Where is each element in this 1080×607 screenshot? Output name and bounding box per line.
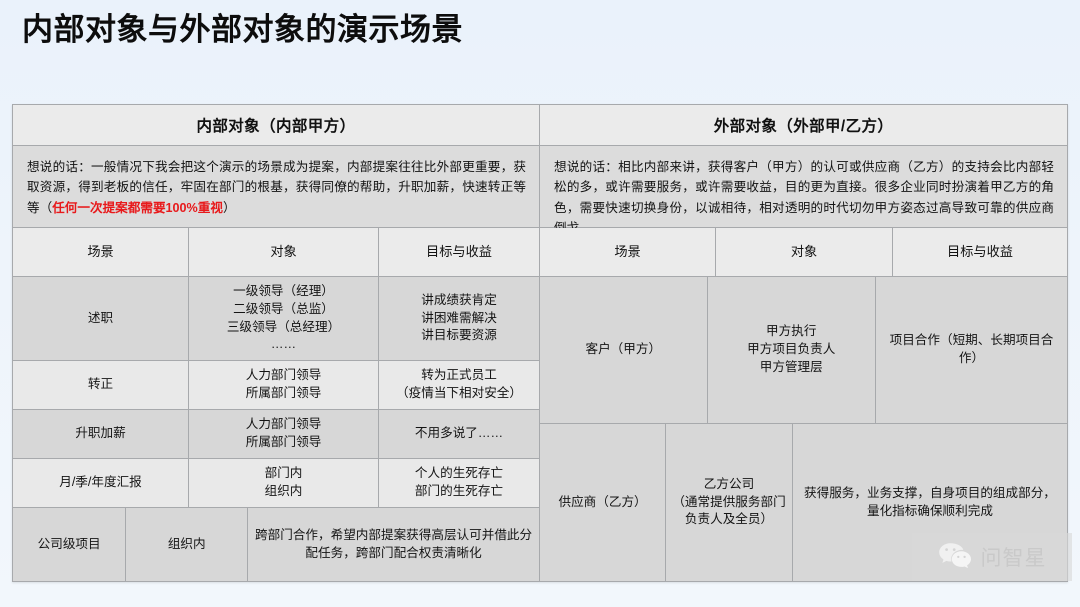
table-row: 述职 一级领导（经理） 二级领导（总监） 三级领导（总经理） …… 讲成绩获肯定…	[13, 276, 539, 360]
table-header-row-external: 场景 对象 目标与收益	[540, 228, 1067, 276]
cell-goal: 转为正式员工 （疫情当下相对安全）	[378, 361, 539, 409]
table-row: 公司级项目 组织内 跨部门合作，希望内部提案获得高层认可并借此分配任务，跨部门配…	[13, 507, 539, 581]
cell-object: 乙方公司 （通常提供服务部门负责人及全员）	[665, 424, 792, 581]
section-description-external: 想说的话：相比内部来讲，获得客户（甲方）的认可或供应商（乙方）的支持会比内部轻松…	[540, 146, 1067, 228]
cell-object: 人力部门领导 所属部门领导	[188, 361, 378, 409]
cell-object: 甲方执行 甲方项目负责人 甲方管理层	[707, 277, 875, 423]
cell-object: 一级领导（经理） 二级领导（总监） 三级领导（总经理） ……	[188, 277, 378, 360]
cell-object: 组织内	[125, 508, 247, 581]
cell-goal: 不用多说了……	[378, 410, 539, 458]
cell-scene: 客户（甲方）	[540, 277, 707, 423]
table-header-row-internal: 场景 对象 目标与收益	[13, 228, 539, 276]
table-row: 月/季/年度汇报 部门内 组织内 个人的生死存亡 部门的生死存亡	[13, 458, 539, 507]
column-header-goal: 目标与收益	[378, 228, 539, 276]
cell-scene: 述职	[13, 277, 188, 360]
cell-goal: 跨部门合作，希望内部提案获得高层认可并借此分配任务，跨部门配合权责清晰化	[247, 508, 539, 581]
slide-canvas: 内部对象与外部对象的演示场景 内部对象（内部甲方） 想说的话：一般情况下我会把这…	[0, 0, 1080, 607]
description-highlight-internal: 任何一次提案都需要100%重视	[52, 201, 223, 215]
column-header-scene: 场景	[13, 228, 188, 276]
table-row: 客户（甲方） 甲方执行 甲方项目负责人 甲方管理层 项目合作（短期、长期项目合作…	[540, 276, 1067, 423]
table-row: 转正 人力部门领导 所属部门领导 转为正式员工 （疫情当下相对安全）	[13, 360, 539, 409]
cell-object: 人力部门领导 所属部门领导	[188, 410, 378, 458]
column-header-object: 对象	[715, 228, 892, 276]
section-external: 外部对象（外部甲/乙方） 想说的话：相比内部来讲，获得客户（甲方）的认可或供应商…	[540, 105, 1067, 581]
comparison-table: 内部对象（内部甲方） 想说的话：一般情况下我会把这个演示的场景成为提案，内部提案…	[12, 104, 1068, 582]
section-header-external: 外部对象（外部甲/乙方）	[540, 105, 1067, 146]
section-header-internal: 内部对象（内部甲方）	[13, 105, 539, 146]
cell-scene: 月/季/年度汇报	[13, 459, 188, 507]
page-title: 内部对象与外部对象的演示场景	[22, 10, 463, 50]
data-grid-internal: 场景 对象 目标与收益 述职 一级领导（经理） 二级领导（总监） 三级领导（总经…	[13, 228, 539, 581]
cell-goal: 项目合作（短期、长期项目合作）	[875, 277, 1067, 423]
section-description-internal: 想说的话：一般情况下我会把这个演示的场景成为提案，内部提案往往比外部更重要，获取…	[13, 146, 539, 228]
section-internal: 内部对象（内部甲方） 想说的话：一般情况下我会把这个演示的场景成为提案，内部提案…	[13, 105, 540, 581]
table-row: 升职加薪 人力部门领导 所属部门领导 不用多说了……	[13, 409, 539, 458]
description-text-external: 想说的话：相比内部来讲，获得客户（甲方）的认可或供应商（乙方）的支持会比内部轻松…	[554, 160, 1054, 235]
description-suffix-internal: ）	[223, 201, 236, 215]
cell-scene: 供应商（乙方）	[540, 424, 665, 581]
data-grid-external: 场景 对象 目标与收益 客户（甲方） 甲方执行 甲方项目负责人 甲方管理层 项目…	[540, 228, 1067, 581]
cell-scene: 转正	[13, 361, 188, 409]
cell-scene: 公司级项目	[13, 508, 125, 581]
cell-object: 部门内 组织内	[188, 459, 378, 507]
column-header-object: 对象	[188, 228, 378, 276]
cell-goal: 获得服务，业务支撑，自身项目的组成部分，量化指标确保顺利完成	[792, 424, 1067, 581]
cell-scene: 升职加薪	[13, 410, 188, 458]
column-header-goal: 目标与收益	[892, 228, 1067, 276]
cell-goal: 个人的生死存亡 部门的生死存亡	[378, 459, 539, 507]
table-row: 供应商（乙方） 乙方公司 （通常提供服务部门负责人及全员） 获得服务，业务支撑，…	[540, 423, 1067, 581]
column-header-scene: 场景	[540, 228, 715, 276]
cell-goal: 讲成绩获肯定 讲困难需解决 讲目标要资源	[378, 277, 539, 360]
